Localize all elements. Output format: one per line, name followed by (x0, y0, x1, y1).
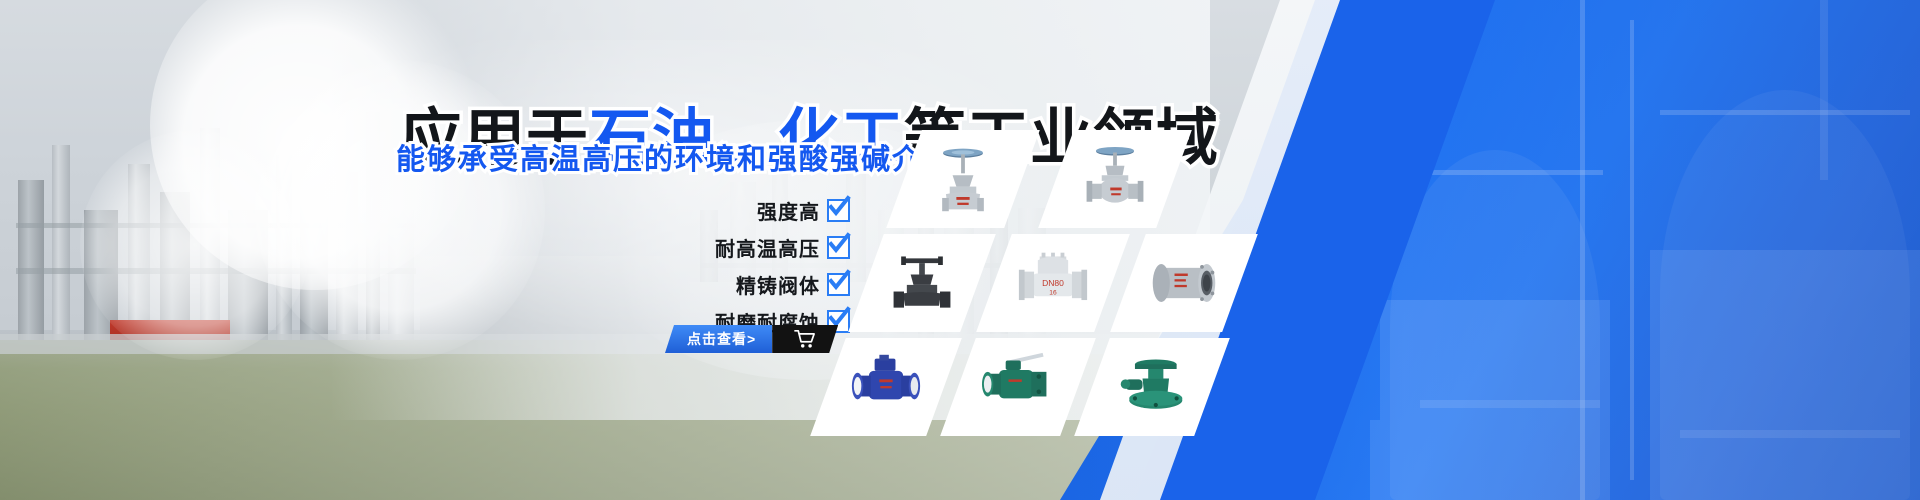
feature-label: 耐高温高压 (715, 233, 820, 262)
product-cell[interactable]: DN80 16 (976, 234, 1130, 332)
svg-text:DN80: DN80 (1042, 278, 1064, 288)
shopping-cart-icon (794, 329, 816, 349)
feature-item-strength: 强度高 (757, 196, 850, 225)
product-cell[interactable] (1038, 130, 1192, 228)
cta-label: 点击查看> (687, 329, 756, 349)
promo-banner: 应用于石油、化工等工业领域 能够承受高温高压的环境和强酸强碱介质 强度高 耐高温… (0, 0, 1920, 500)
page-subtitle: 能够承受高温高压的环境和强酸强碱介质 (396, 146, 954, 175)
check-icon (827, 236, 850, 259)
swing-check-valve-dn80-icon: DN80 16 (1015, 247, 1091, 319)
lined-ball-valve-blue-icon (848, 351, 924, 423)
feature-label: 精铸阀体 (736, 270, 820, 299)
feature-item-precision-cast-body: 精铸阀体 (736, 270, 850, 299)
wafer-check-valve-icon (1146, 247, 1222, 319)
feature-item-high-temp-pressure: 耐高温高压 (715, 233, 850, 262)
globe-valve-flanged-icon (1077, 143, 1153, 215)
feature-checklist: 强度高 耐高温高压 精铸阀体 耐磨耐腐蚀 (600, 196, 850, 336)
gate-valve-handwheel-icon (925, 143, 1001, 215)
cta-cart-area[interactable] (772, 325, 838, 353)
cta-label-area[interactable]: 点击查看> (665, 325, 772, 353)
product-cell[interactable] (940, 338, 1096, 436)
product-cell[interactable] (886, 130, 1040, 228)
check-icon (827, 199, 850, 222)
product-grid: DN80 16 (880, 130, 1220, 480)
check-icon (827, 273, 850, 296)
lined-ball-valve-green-icon (980, 351, 1056, 423)
product-cell[interactable] (1074, 338, 1230, 436)
diaphragm-valve-green-icon (1114, 351, 1190, 423)
steam-plume (80, 130, 310, 360)
svg-text:16: 16 (1049, 289, 1057, 296)
forged-steel-gate-valve-icon (884, 247, 960, 319)
cta-button[interactable]: 点击查看> (665, 325, 838, 353)
feature-label: 强度高 (757, 196, 820, 225)
